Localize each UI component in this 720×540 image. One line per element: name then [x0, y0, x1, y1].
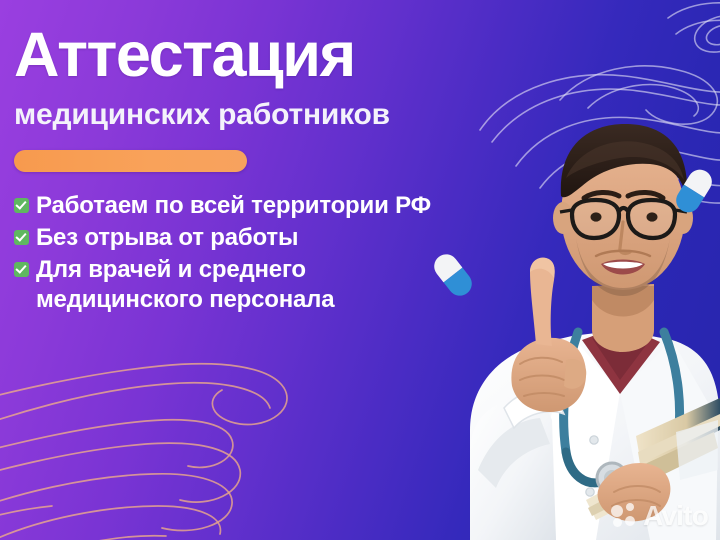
avito-dots-logo-icon — [611, 503, 637, 529]
list-item-label: Без отрыва от работы — [36, 223, 298, 253]
avito-watermark: Avito — [611, 502, 708, 530]
list-item: Работаем по всей территории РФ — [14, 191, 514, 221]
avito-wordmark: Avito — [643, 502, 708, 530]
list-item: Без отрыва от работы — [14, 223, 514, 253]
green-checkbox-icon — [14, 198, 29, 213]
green-checkbox-icon — [14, 262, 29, 277]
list-item-label-line2: медицинского персонала — [36, 285, 334, 315]
list-item-label: Для врачей и среднего медицинского персо… — [36, 255, 334, 315]
orange-contour-lines-decoration — [0, 340, 360, 540]
orange-divider-bar — [14, 150, 247, 172]
list-item: Для врачей и среднего медицинского персо… — [14, 255, 514, 315]
green-checkbox-icon — [14, 230, 29, 245]
promo-banner: Аттестация медицинских работников Работа… — [0, 0, 720, 540]
banner-subtitle: медицинских работников — [14, 99, 514, 131]
feature-list: Работаем по всей территории РФ Без отрыв… — [14, 191, 514, 316]
banner-title: Аттестация — [14, 24, 514, 87]
list-item-label: Работаем по всей территории РФ — [36, 191, 431, 221]
banner-text-block: Аттестация медицинских работников Работа… — [14, 24, 514, 317]
